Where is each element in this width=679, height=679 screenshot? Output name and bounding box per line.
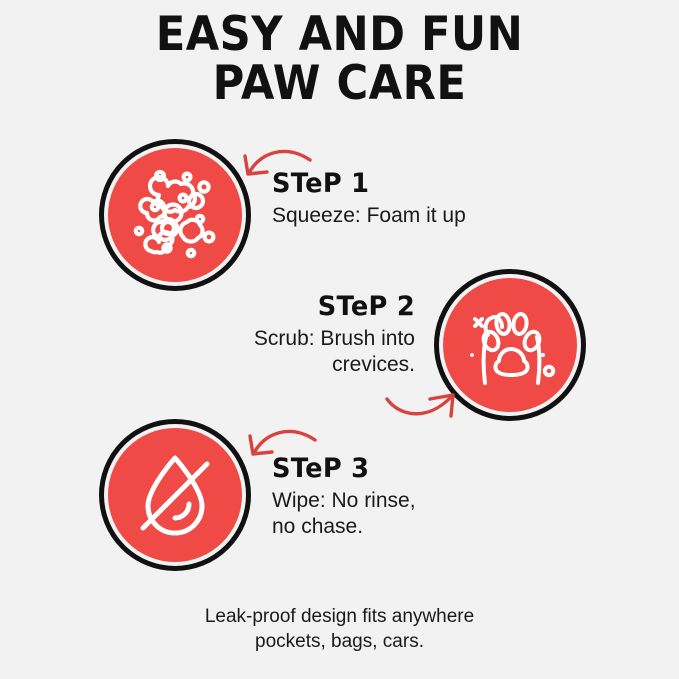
step-1-text-block: STeP 1 Squeeze: Foam it up — [272, 170, 572, 229]
step-3-label: STeP 3 — [272, 455, 557, 483]
title-line-two: PAW CARE — [27, 61, 652, 107]
step-2-icon-circle — [434, 269, 586, 421]
step-3-description: Wipe: No rinse, no chase. — [272, 488, 572, 539]
no-water-drop-icon — [126, 446, 224, 544]
step-1-fill — [108, 148, 242, 282]
paw-care-infographic: EASY AND FUN PAW CARE — [0, 0, 679, 679]
step-3-text-block: STeP 3 Wipe: No rinse, no chase. — [272, 455, 572, 540]
step-3-fill — [108, 428, 242, 562]
step-1-label: STeP 1 — [272, 170, 557, 198]
step-2-description: Scrub: Brush into crevices. — [180, 326, 415, 377]
step-2-fill — [443, 278, 577, 412]
step-2-text-block: STeP 2 Scrub: Brush into crevices. — [180, 293, 415, 378]
page-title: EASY AND FUN PAW CARE — [0, 12, 679, 107]
title-line-one: EASY AND FUN — [27, 12, 652, 58]
step-3-icon-circle — [99, 419, 251, 571]
footer-caption: Leak-proof design fits anywhere pockets,… — [0, 604, 679, 654]
foam-bubbles-icon — [125, 165, 225, 265]
step-1-description: Squeeze: Foam it up — [272, 203, 572, 229]
step-1-icon-circle — [99, 139, 251, 291]
paw-print-icon — [458, 293, 562, 397]
step-2-label: STeP 2 — [192, 293, 415, 321]
